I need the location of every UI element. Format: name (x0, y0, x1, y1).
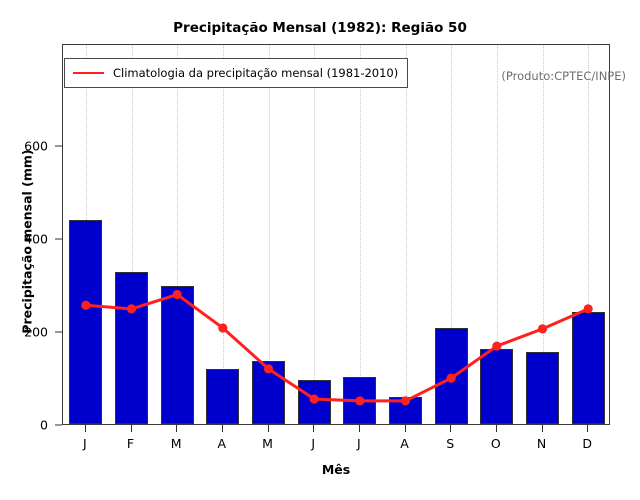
x-tick-mark (405, 425, 406, 432)
climatology-marker (401, 396, 410, 405)
x-tick-label: A (400, 436, 409, 451)
x-axis-label: Mês (62, 462, 610, 477)
producer-credit: (Produto:CPTEC/INPE) (501, 69, 626, 83)
legend: Climatologia da precipitação mensal (198… (64, 58, 408, 88)
y-tick-mark (55, 425, 62, 426)
x-tick-label: M (171, 436, 182, 451)
legend-line-swatch-icon (73, 72, 104, 75)
x-tick-label: A (218, 436, 227, 451)
x-tick-mark (131, 425, 132, 432)
y-tick-mark (55, 332, 62, 333)
legend-entry-label: Climatologia da precipitação mensal (198… (113, 66, 398, 80)
x-tick-label: D (582, 436, 592, 451)
climatology-marker (218, 323, 227, 332)
y-tick-mark (55, 239, 62, 240)
x-tick-mark (450, 425, 451, 432)
climatology-marker (264, 364, 273, 373)
x-tick-label: S (446, 436, 454, 451)
y-tick-mark (55, 146, 62, 147)
x-tick-mark (222, 425, 223, 432)
x-tick-label: F (127, 436, 134, 451)
climatology-marker (492, 341, 501, 350)
plot-area (62, 44, 610, 425)
x-tick-mark (313, 425, 314, 432)
climatology-marker (538, 324, 547, 333)
climatology-line-svg (63, 45, 611, 426)
climatology-marker (447, 374, 456, 383)
x-tick-mark (359, 425, 360, 432)
x-tick-label: J (83, 436, 87, 451)
x-tick-mark (176, 425, 177, 432)
chart-title: Precipitação Mensal (1982): Região 50 (0, 20, 640, 36)
x-axis: JFMAMJJASOND (62, 425, 610, 455)
x-tick-label: N (537, 436, 546, 451)
chart-figure: Precipitação Mensal (1982): Região 50 02… (0, 0, 640, 500)
x-tick-label: O (491, 436, 501, 451)
climatology-marker (173, 290, 182, 299)
x-tick-mark (542, 425, 543, 432)
climatology-marker (127, 304, 136, 313)
climatology-marker (355, 396, 364, 405)
x-tick-label: J (357, 436, 361, 451)
climatology-line-layer (63, 45, 609, 424)
climatology-polyline (86, 295, 588, 401)
x-tick-label: J (311, 436, 315, 451)
climatology-marker (310, 394, 319, 403)
x-tick-mark (85, 425, 86, 432)
climatology-marker (81, 301, 90, 310)
climatology-marker (584, 304, 593, 313)
y-axis-label: Precipitação mensal (mm) (20, 112, 35, 372)
climatology-markers (81, 290, 593, 406)
y-tick-label: 0 (40, 418, 48, 433)
x-tick-mark (496, 425, 497, 432)
x-tick-label: M (262, 436, 273, 451)
x-tick-mark (587, 425, 588, 432)
x-tick-mark (268, 425, 269, 432)
